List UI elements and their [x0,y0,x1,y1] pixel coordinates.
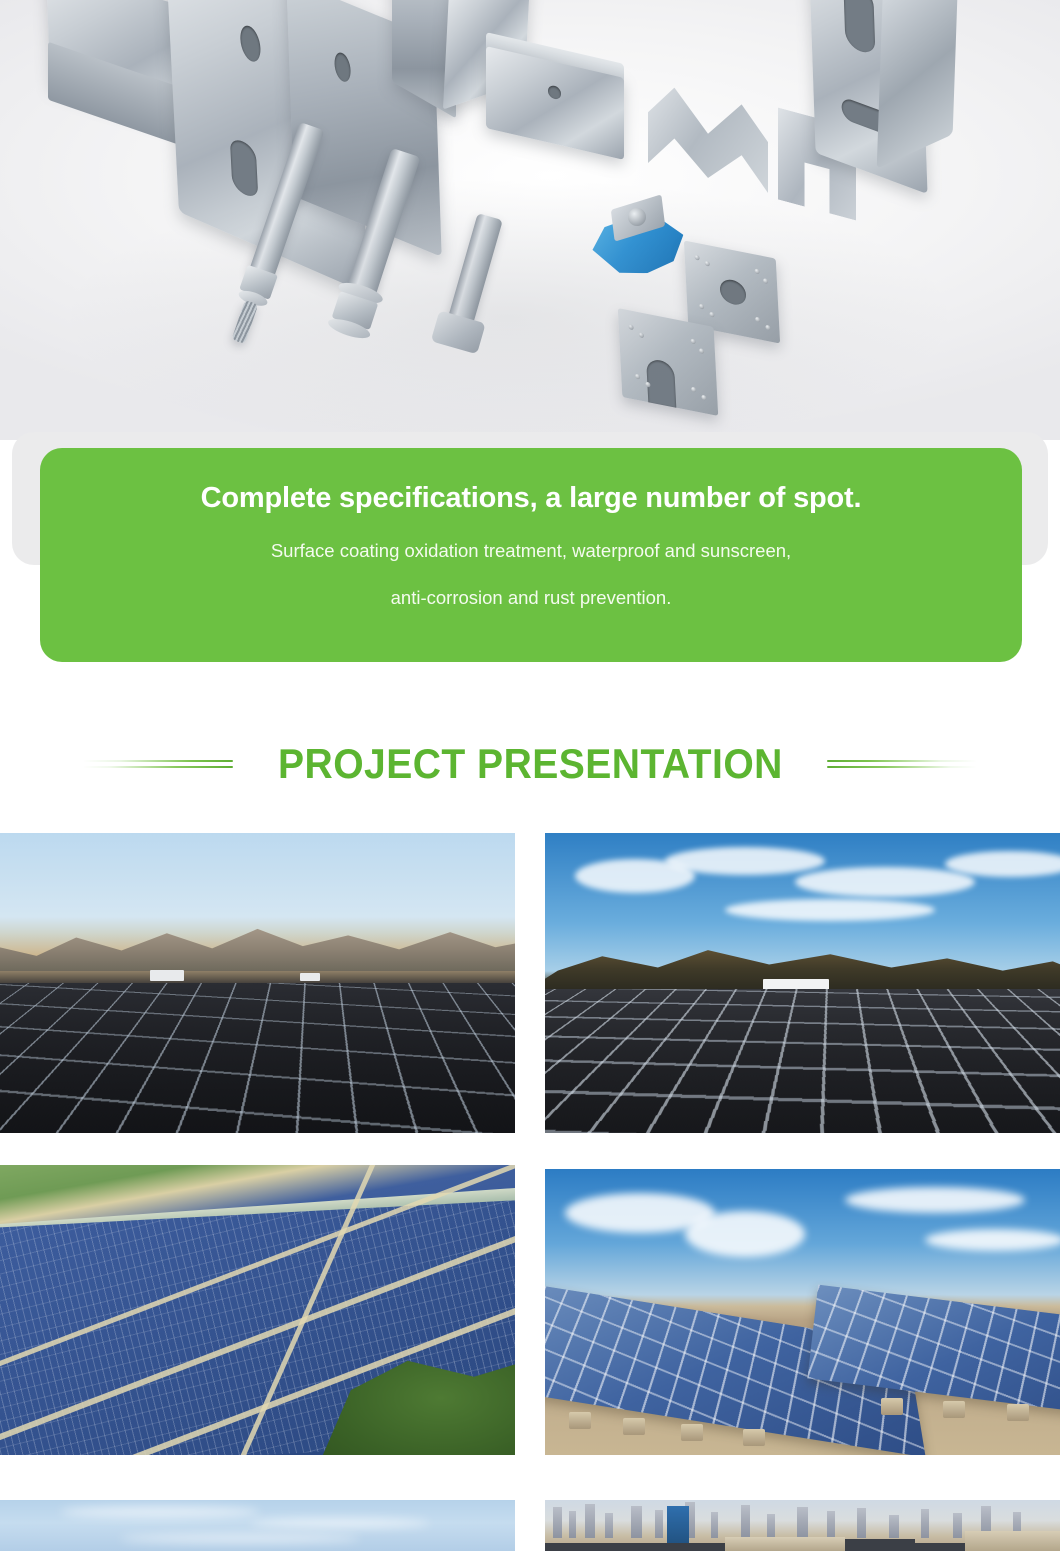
gallery-item[interactable] [545,1169,1060,1455]
gallery-photo-hills-plant [545,833,1060,1133]
feature-banner: Complete specifications, a large number … [40,448,1022,662]
hardware-base-plate-wing [877,0,960,169]
heading-rule-right-icon [827,757,977,771]
gallery-item[interactable] [0,1500,515,1551]
hardware-l-bracket-large [165,0,368,294]
hardware-angle-plate-b [443,0,531,110]
hardware-end-clamp [778,108,856,221]
hardware-l-bracket-small [286,0,441,257]
gallery-photo-city-substation [545,1500,1060,1551]
hero-product-image [0,0,1060,440]
section-heading: PROJECT PRESENTATION [0,712,1060,816]
feature-banner-subtitle-line-1: Surface coating oxidation treatment, wat… [271,542,791,561]
hardware-angle-plate-a [392,0,456,118]
gallery-item[interactable] [545,1500,1060,1551]
feature-banner-title: Complete specifications, a large number … [201,484,862,513]
hardware-mid-clamp-top [486,32,624,88]
project-gallery [0,833,1060,1551]
gallery-item[interactable] [0,1165,515,1455]
hardware-blue-clip-bolt [628,208,646,226]
gallery-photo-sky [0,1500,515,1551]
hardware-w-clamp [648,81,768,193]
gallery-item[interactable] [0,833,515,1133]
feature-banner-subtitle-line-2: anti-corrosion and rust prevention. [391,589,672,608]
product-detail-page: Complete specifications, a large number … [0,0,1060,1551]
hardware-base-plate-right [808,0,927,194]
gallery-item[interactable] [545,833,1060,1133]
hardware-blue-clip-bracket [611,194,665,241]
hardware-rail-face [48,42,224,161]
hardware-washer-plate-2 [618,308,718,416]
gallery-photo-desert-plant [0,833,515,1133]
hardware-washer-plate-1 [684,240,780,343]
hardware-blue-clip [589,207,688,280]
hardware-mid-clamp [486,46,624,160]
hardware-rail [46,0,240,144]
gallery-photo-tilted-array [545,1169,1060,1455]
gallery-photo-aerial-farm [0,1165,515,1455]
section-title: PROJECT PRESENTATION [278,740,783,788]
heading-rule-left-icon [83,757,233,771]
